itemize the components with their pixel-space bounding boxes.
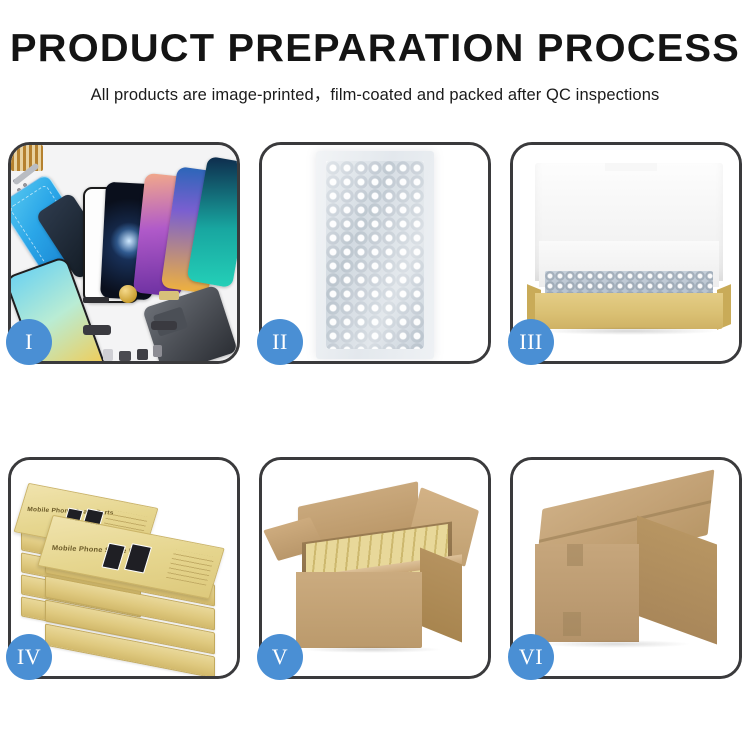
page-subtitle: All products are image-printed，film-coat…	[0, 81, 750, 105]
inner-box-shadow	[539, 327, 719, 335]
earpiece-speaker-part	[83, 297, 109, 303]
step-badge-5: V	[257, 634, 303, 680]
step-badge-2: II	[257, 319, 303, 365]
box-spec-lines-2	[166, 549, 215, 585]
step-panel-3: III	[510, 142, 742, 364]
process-steps-grid: I II III	[8, 142, 742, 679]
box-stack: Mobile Phone Spare Parts Mobile Phone Sp…	[15, 482, 235, 666]
step-panel-5: V	[259, 457, 491, 679]
step-badge-1: I	[6, 319, 52, 365]
step-panel-2: II	[259, 142, 491, 364]
step-badge-6: VI	[508, 634, 554, 680]
step-panel-4: Mobile Phone Spare Parts Mobile Phone Sp…	[8, 457, 240, 679]
product-preparation-process-page: PRODUCT PREPARATION PROCESS All products…	[0, 0, 750, 750]
carton-front-face	[296, 572, 422, 648]
small-component-3	[137, 349, 148, 360]
step-badge-3: III	[508, 319, 554, 365]
page-title: PRODUCT PREPARATION PROCESS	[0, 26, 750, 72]
step-panel-1: I	[8, 142, 240, 364]
metal-bracket-part	[159, 291, 179, 300]
inner-box-front	[535, 293, 723, 329]
carton-right-side	[420, 548, 462, 643]
bubble-wrap-bubbles	[326, 161, 424, 349]
sealed-carton-shadow	[541, 640, 691, 648]
small-component-4	[153, 345, 162, 357]
sealed-carton-front	[535, 544, 639, 642]
step-badge-4: IV	[6, 634, 52, 680]
carton-tape-mark-1	[567, 544, 583, 566]
flex-cable-part-2	[151, 321, 177, 330]
carton-tape-mark-2	[563, 612, 581, 636]
page-header: PRODUCT PREPARATION PROCESS All products…	[0, 0, 750, 105]
step-panel-6: VI	[510, 457, 742, 679]
small-component-1	[103, 349, 113, 361]
vibration-motor-part	[119, 285, 137, 303]
carton-shadow	[302, 646, 442, 653]
flex-cable-part-1	[83, 325, 111, 335]
small-component-2	[119, 351, 131, 361]
